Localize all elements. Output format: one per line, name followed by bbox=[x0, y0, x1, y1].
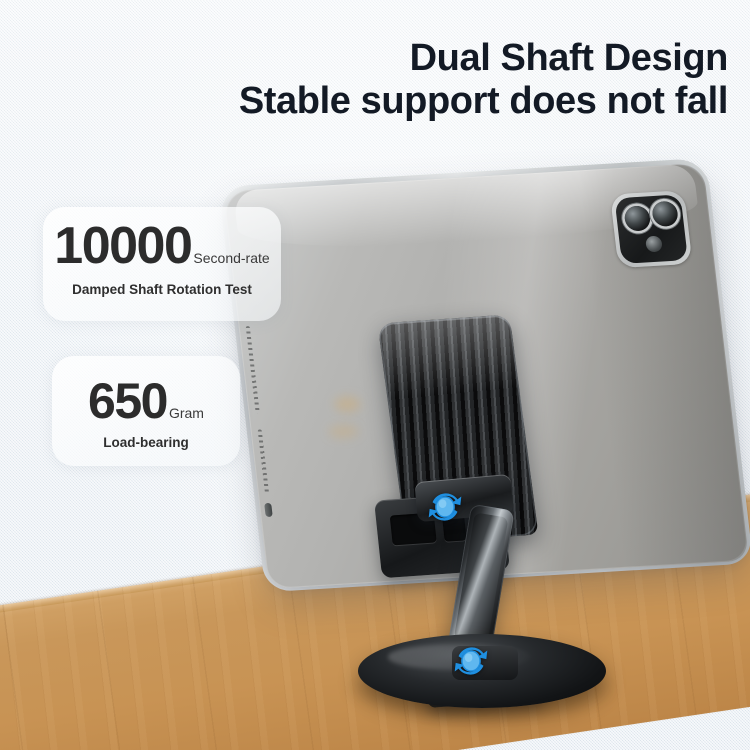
headline-line-1: Dual Shaft Design bbox=[239, 38, 728, 78]
stat-value: 10000 bbox=[54, 220, 191, 272]
stat-caption: Damped Shaft Rotation Test bbox=[43, 282, 281, 297]
stat-caption: Load-bearing bbox=[52, 435, 240, 450]
headline-line-2: Stable support does not fall bbox=[239, 81, 728, 121]
lidar-sensor-icon bbox=[645, 236, 663, 253]
headline: Dual Shaft Design Stable support does no… bbox=[239, 38, 728, 122]
stat-badge-load-bearing: 650 Gram Load-bearing bbox=[52, 356, 240, 466]
stat-badge-rotation-test: 10000 Second-rate Damped Shaft Rotation … bbox=[43, 207, 281, 321]
rotation-indicator-icon bbox=[422, 484, 468, 530]
camera-module bbox=[610, 190, 692, 268]
tablet-speaker-grille bbox=[258, 429, 269, 493]
camera-lens-icon bbox=[623, 205, 651, 231]
stat-unit: Second-rate bbox=[193, 250, 269, 266]
tablet-stand bbox=[330, 300, 630, 720]
stat-value-row: 650 Gram bbox=[52, 356, 240, 426]
stat-value-row: 10000 Second-rate bbox=[43, 207, 281, 272]
tablet-port bbox=[264, 503, 273, 517]
product-marketing-image: Dual Shaft Design Stable support does no… bbox=[0, 0, 750, 750]
stat-unit: Gram bbox=[169, 405, 204, 421]
camera-lens-icon bbox=[651, 201, 679, 227]
tablet-speaker-grille bbox=[246, 326, 260, 414]
rotation-indicator-icon bbox=[448, 638, 494, 684]
camera-module-inner bbox=[614, 194, 688, 263]
stat-value: 650 bbox=[88, 376, 167, 426]
